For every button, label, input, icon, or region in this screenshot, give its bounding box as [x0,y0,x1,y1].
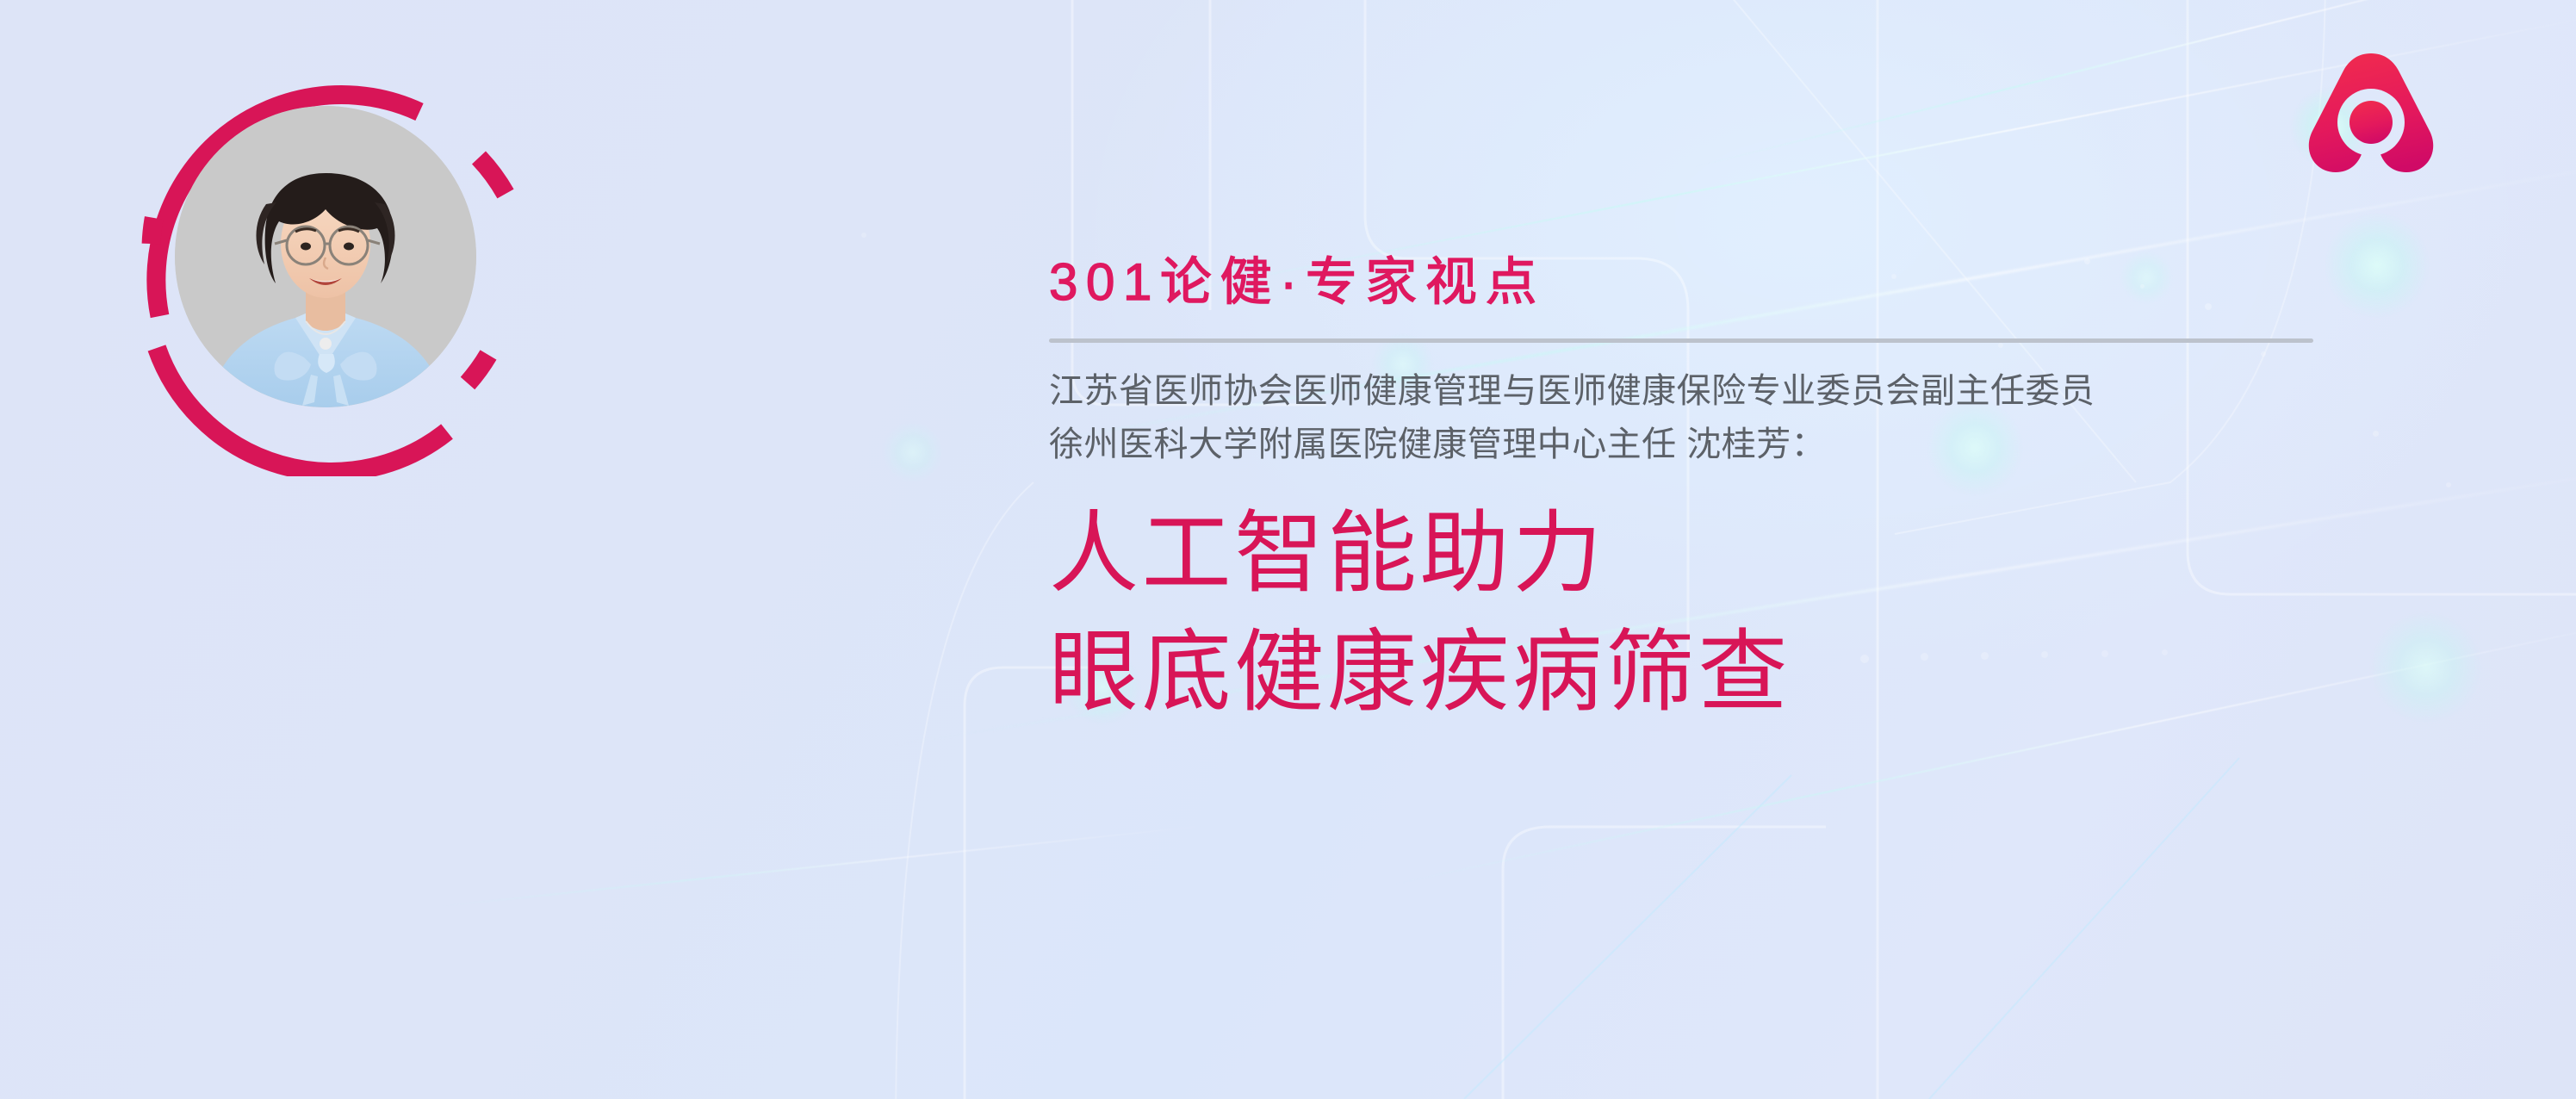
light-streak [432,825,1203,908]
portrait-illustration [175,106,476,407]
particle-dot [861,233,866,238]
headline: 人工智能助力 眼底健康疾病筛查 [1049,494,2358,733]
headline-line-2: 眼底健康疾病筛查 [1049,613,2358,732]
expert-viewpoint-banner: 301论健·专家视点 江苏省医师协会医师健康管理与医师健康保险专业委员会副主任委… [0,0,2576,1099]
particle-dot [2446,482,2451,487]
speaker-affiliation-line-2: 徐州医科大学附属医院健康管理中心主任 沈桂芳： [1049,419,2358,470]
portrait-image [175,106,476,407]
speaker-affiliation-line-1: 江苏省医师协会医师健康管理与医师健康保险专业委员会副主任委员 [1049,365,2358,417]
brand-logo-icon [2294,33,2448,186]
glow-spark [2370,612,2482,723]
particle-dot [2373,431,2379,437]
program-kicker: 301论健·专家视点 [1049,255,2358,309]
speaker-portrait [151,82,521,452]
divider-line [1049,338,2313,343]
text-column: 301论健·专家视点 江苏省医师协会医师健康管理与医师健康保险专业委员会副主任委… [1049,255,2358,733]
headline-line-1: 人工智能助力 [1049,494,2358,613]
glow-spark [883,422,943,482]
